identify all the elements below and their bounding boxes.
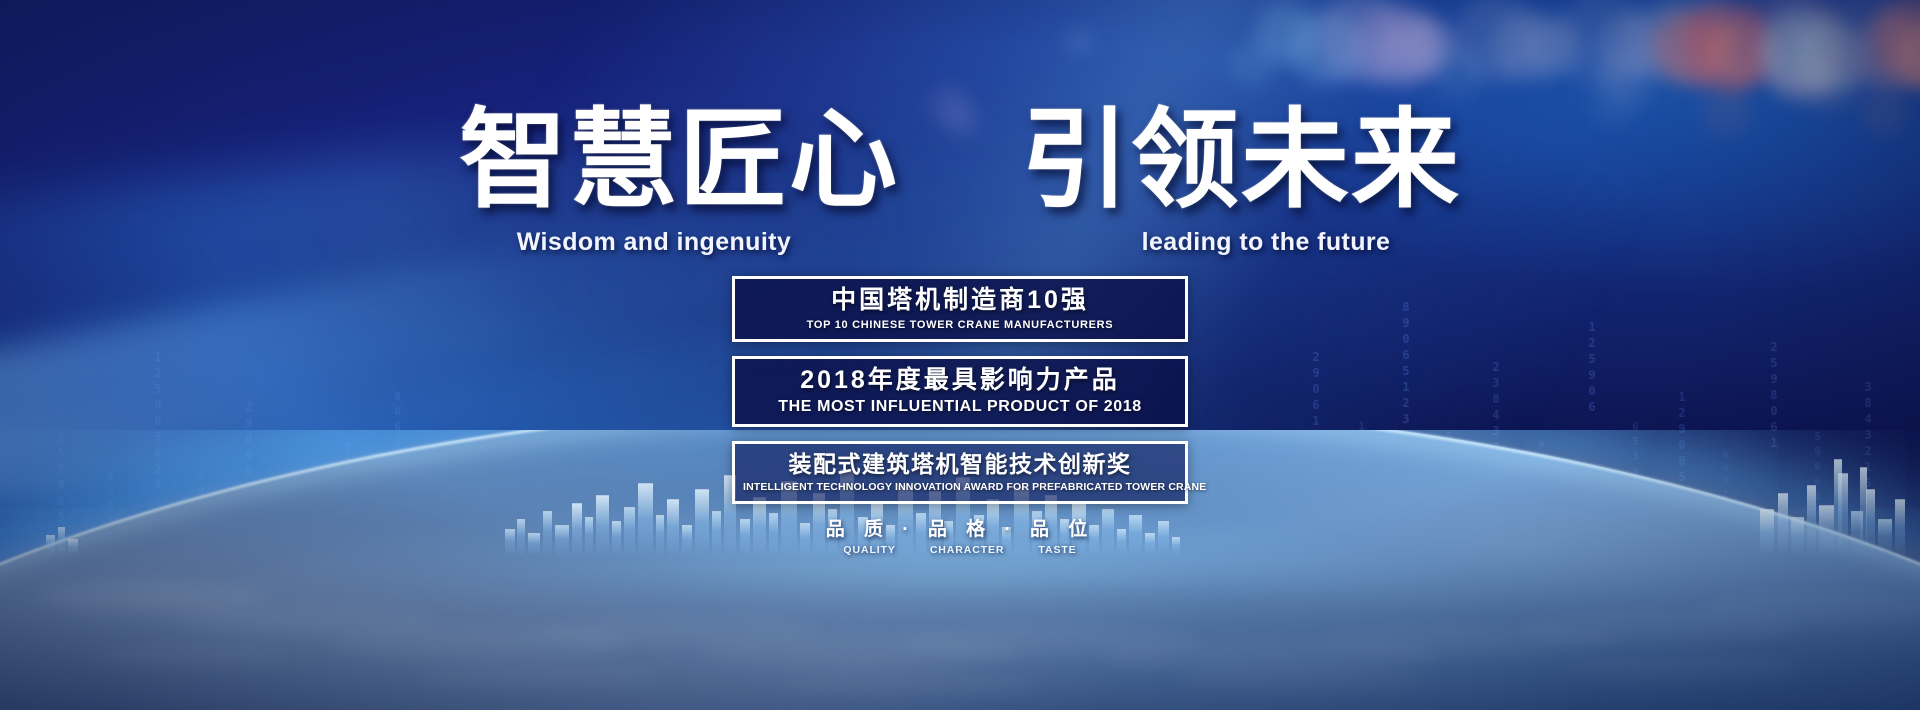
- award-2-title-en: THE MOST INFLUENTIAL PRODUCT OF 2018: [743, 398, 1177, 416]
- award-1-title-cn: 中国塔机制造商10强: [743, 286, 1177, 316]
- headline-right: 引领未来: [1021, 99, 1461, 220]
- tagline-en-word-2: TASTE: [1038, 544, 1076, 556]
- page-title: 智慧匠心 引领未来: [0, 104, 1920, 216]
- headline-left: 智慧匠心: [459, 99, 899, 220]
- tagline: 品 质 · 品 格 · 品 位 QUALITYCHARACTERTASTE: [0, 514, 1920, 556]
- subtitle-row: Wisdom and ingenuity leading to the futu…: [0, 228, 1920, 257]
- banner-stage: 257965128906125906125985624·129065238432…: [0, 0, 1920, 710]
- subtitle-spacer: [904, 228, 1016, 257]
- award-2-title-cn: 2018年度最具影响力产品: [743, 366, 1177, 396]
- subtitle-left: Wisdom and ingenuity: [404, 228, 904, 257]
- award-box-2: 2018年度最具影响力产品 THE MOST INFLUENTIAL PRODU…: [732, 356, 1188, 428]
- tagline-en-word-0: QUALITY: [843, 544, 895, 556]
- award-3-title-en: INTELLIGENT TECHNOLOGY INNOVATION AWARD …: [743, 481, 1177, 493]
- tagline-cn: 品 质 · 品 格 · 品 位: [0, 514, 1920, 541]
- tagline-en-word-1: CHARACTER: [930, 544, 1005, 556]
- award-1-title-en: TOP 10 CHINESE TOWER CRANE MANUFACTURERS: [743, 319, 1177, 331]
- subtitle-right: leading to the future: [1016, 228, 1516, 257]
- tagline-en-row: QUALITYCHARACTERTASTE: [0, 544, 1920, 556]
- award-list: 中国塔机制造商10强 TOP 10 CHINESE TOWER CRANE MA…: [732, 276, 1188, 504]
- award-box-1: 中国塔机制造商10强 TOP 10 CHINESE TOWER CRANE MA…: [732, 276, 1188, 342]
- award-3-title-cn: 装配式建筑塔机智能技术创新奖: [743, 451, 1177, 478]
- award-box-3: 装配式建筑塔机智能技术创新奖 INTELLIGENT TECHNOLOGY IN…: [732, 441, 1188, 504]
